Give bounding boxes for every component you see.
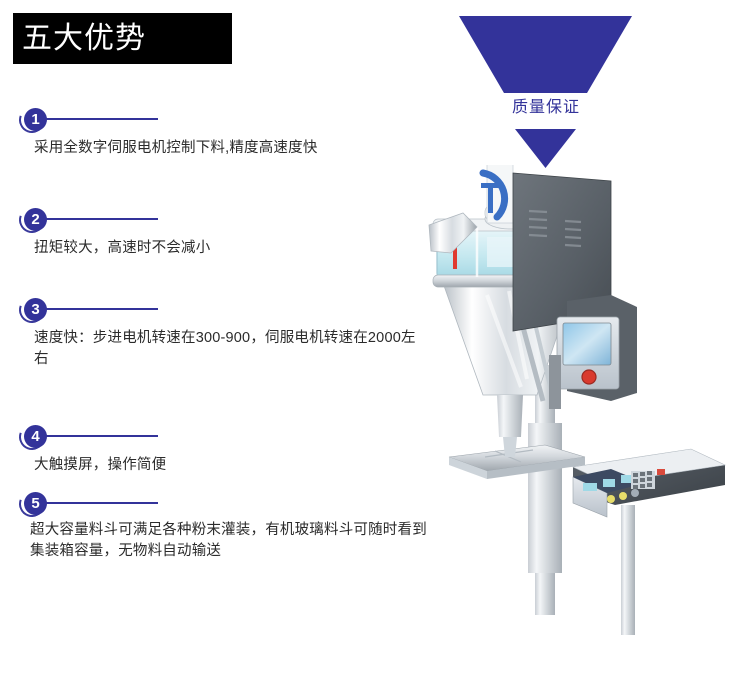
feature-badge-1: 1 <box>19 106 51 136</box>
feature-text-3: 速度快：步进电机转速在300-900，伺服电机转速在2000左右 <box>34 328 426 370</box>
feature-item-1: 1 采用全数字伺服电机控制下料,精度高速度快 <box>0 106 440 136</box>
quality-funnel-graphic: 质量保证 <box>440 0 670 180</box>
feature-header-2: 2 <box>0 206 440 236</box>
quality-guarantee-label: 质量保证 <box>440 98 652 118</box>
feature-text-5: 超大容量料斗可满足各种粉末灌装，有机玻璃料斗可随时看到集装箱容量，无物料自动输送 <box>30 520 428 562</box>
feature-badge-3: 3 <box>19 296 51 326</box>
feature-text-2: 扭矩较大，高速时不会减小 <box>34 238 434 259</box>
feature-header-3: 3 <box>0 296 440 326</box>
feature-badge-4: 4 <box>19 423 51 453</box>
feature-rule-3 <box>45 308 158 310</box>
feature-number-4: 4 <box>24 425 47 448</box>
feature-item-5: 5 超大容量料斗可满足各种粉末灌装，有机玻璃料斗可随时看到集装箱容量，无物料自动… <box>0 490 440 520</box>
feature-number-3: 3 <box>24 298 47 321</box>
feature-badge-2: 2 <box>19 206 51 236</box>
scale-display <box>583 483 597 491</box>
page-root: 五大优势 1 采用全数字伺服电机控制下料,精度高速度快 2 <box>0 0 750 677</box>
feature-rule-5 <box>45 502 158 504</box>
touchscreen-display <box>563 323 611 365</box>
feature-header-5: 5 <box>0 490 440 520</box>
emergency-stop-button <box>582 370 596 384</box>
weighing-scale <box>573 449 725 635</box>
feature-rule-4 <box>45 435 158 437</box>
feature-item-3: 3 速度快：步进电机转速在300-900，伺服电机转速在2000左右 <box>0 296 440 326</box>
feature-text-1: 采用全数字伺服电机控制下料,精度高速度快 <box>34 138 434 159</box>
feature-list: 1 采用全数字伺服电机控制下料,精度高速度快 2 扭矩较大，高速时不会减小 <box>0 0 440 677</box>
feature-rule-2 <box>45 218 158 220</box>
machine-product-image <box>425 165 750 635</box>
feature-rule-1 <box>45 118 158 120</box>
feature-header-1: 1 <box>0 106 440 136</box>
feature-text-4: 大触摸屏，操作简便 <box>34 455 434 476</box>
funnel-upper-shape <box>459 16 632 93</box>
machine-platform-tray <box>449 445 585 479</box>
brand-logo <box>481 173 505 217</box>
feature-number-2: 2 <box>24 208 47 231</box>
feature-header-4: 4 <box>0 423 440 453</box>
feature-number-1: 1 <box>24 108 47 131</box>
feature-number-5: 5 <box>24 492 47 515</box>
funnel-lower-shape <box>515 129 576 168</box>
feature-badge-5: 5 <box>19 490 51 520</box>
feature-item-2: 2 扭矩较大，高速时不会减小 <box>0 206 440 236</box>
feature-item-4: 4 大触摸屏，操作简便 <box>0 423 440 453</box>
